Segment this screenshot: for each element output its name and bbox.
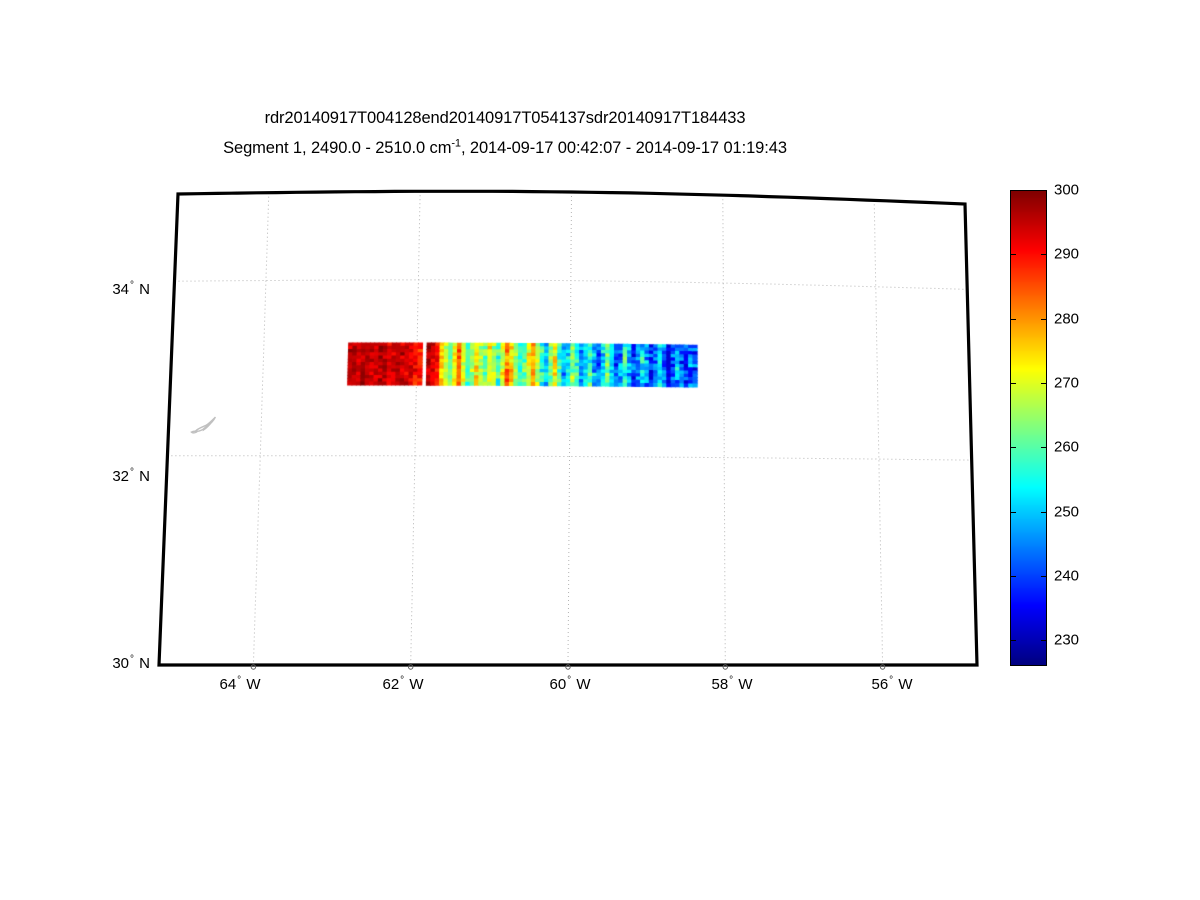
latitude-tick-label: 30° N [40,656,150,671]
latitude-tick-label: 34° N [40,282,150,297]
colorbar-tick-label: 250 [1054,504,1079,519]
figure-canvas: rdr20140917T004128end20140917T054137sdr2… [0,0,1200,900]
map-axes[interactable]: 34° N32° N30° N 64° W62° W60° W58° W56° … [0,0,1010,720]
longitude-tick-label: 60° W [525,677,615,692]
map-svg [0,0,1010,720]
longitude-tick-label: 56° W [847,677,937,692]
colorbar-gradient [1010,190,1047,666]
swath-layer [0,0,1010,720]
colorbar[interactable]: 300290280270260250240230 [1010,190,1130,666]
colorbar-tick-label: 280 [1054,311,1079,326]
colorbar-tick-label: 290 [1054,247,1079,262]
longitude-tick-label: 58° W [687,677,777,692]
colorbar-tick-label: 260 [1054,440,1079,455]
colorbar-tick-label: 270 [1054,375,1079,390]
colorbar-canvas [1011,191,1046,665]
colorbar-tick-label: 240 [1054,568,1079,583]
colorbar-tick-label: 230 [1054,633,1079,648]
longitude-tick-label: 64° W [195,677,285,692]
colorbar-tick-label: 300 [1054,183,1079,198]
swath-canvas [0,0,1010,720]
longitude-tick-label: 62° W [358,677,448,692]
latitude-tick-label: 32° N [40,469,150,484]
